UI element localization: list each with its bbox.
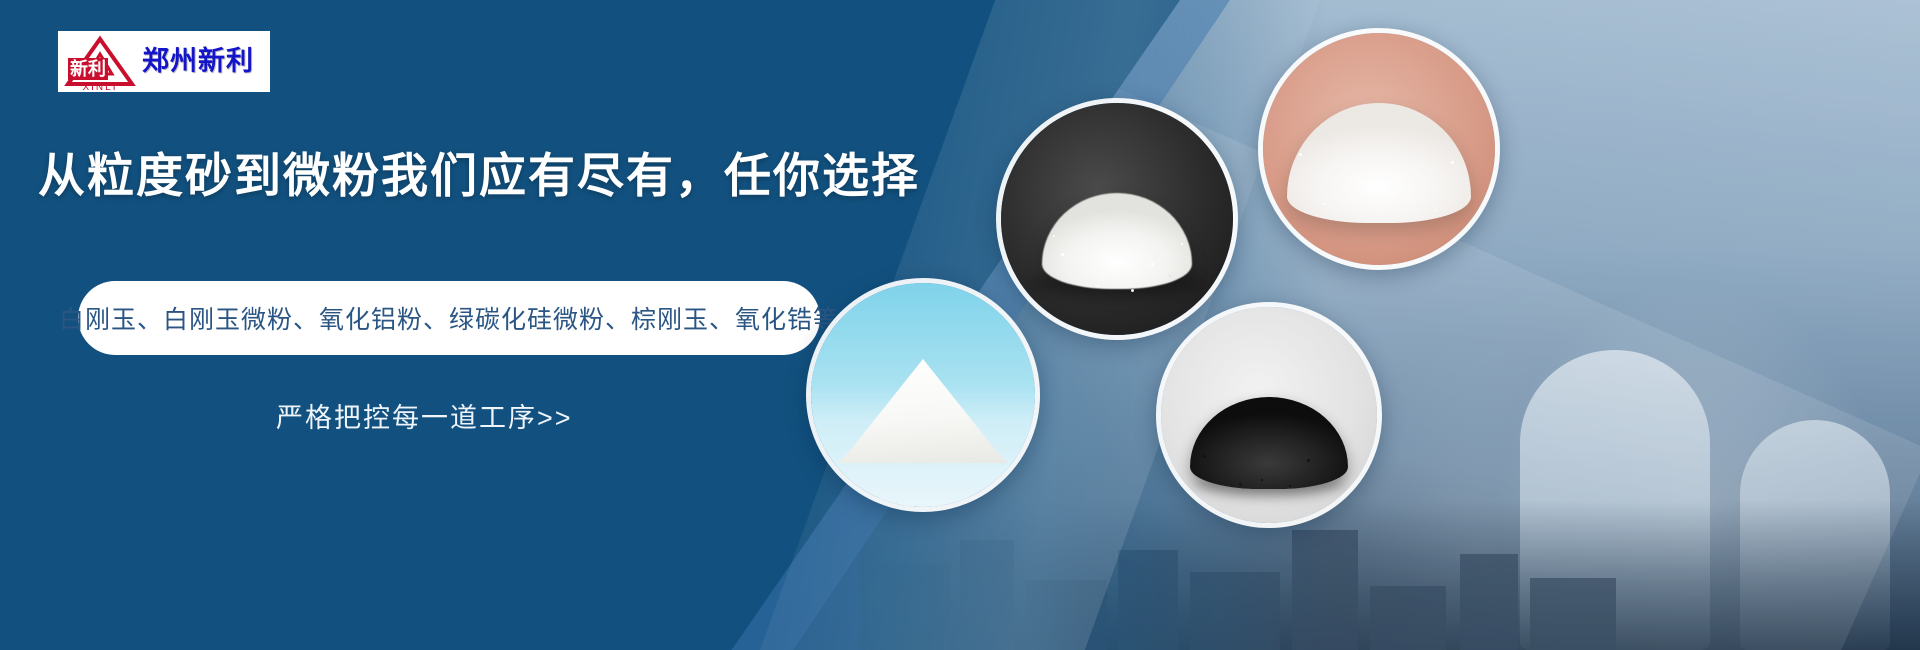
product-image-black-silicon-carbide-grit: [1156, 302, 1382, 528]
product-image-white-micro-powder-pink-dish: [1258, 28, 1500, 270]
dark-grain-texture: [1161, 307, 1377, 523]
company-name-text: 郑州新利: [142, 48, 254, 75]
svg-text:XINLI: XINLI: [82, 82, 117, 90]
powder-speckles: [1263, 33, 1495, 265]
banner-headline: 从粒度砂到微粉我们应有尽有，任你选择: [38, 148, 920, 204]
xinli-triangle-icon: 新利 XINLI: [64, 34, 136, 90]
company-logo[interactable]: 新利 XINLI 郑州新利: [58, 31, 270, 92]
product-list-text: 白刚玉、白刚玉微粉、氧化铝粉、绿碳化硅微粉、棕刚玉、氧化锆等: [59, 300, 839, 336]
grain-texture: [1001, 103, 1233, 335]
product-list-pill[interactable]: 白刚玉、白刚玉微粉、氧化铝粉、绿碳化硅微粉、棕刚玉、氧化锆等: [78, 281, 820, 355]
promo-banner: 新利 XINLI 郑州新利 从粒度砂到微粉我们应有尽有，任你选择 白刚玉、白刚玉…: [0, 0, 1920, 650]
cta-link[interactable]: 严格把控每一道工序>>: [276, 396, 573, 435]
cta-label: 严格把控每一道工序>>: [276, 403, 573, 433]
product-image-white-powder-cone-blue: [806, 278, 1040, 512]
svg-text:新利: 新利: [70, 58, 106, 80]
